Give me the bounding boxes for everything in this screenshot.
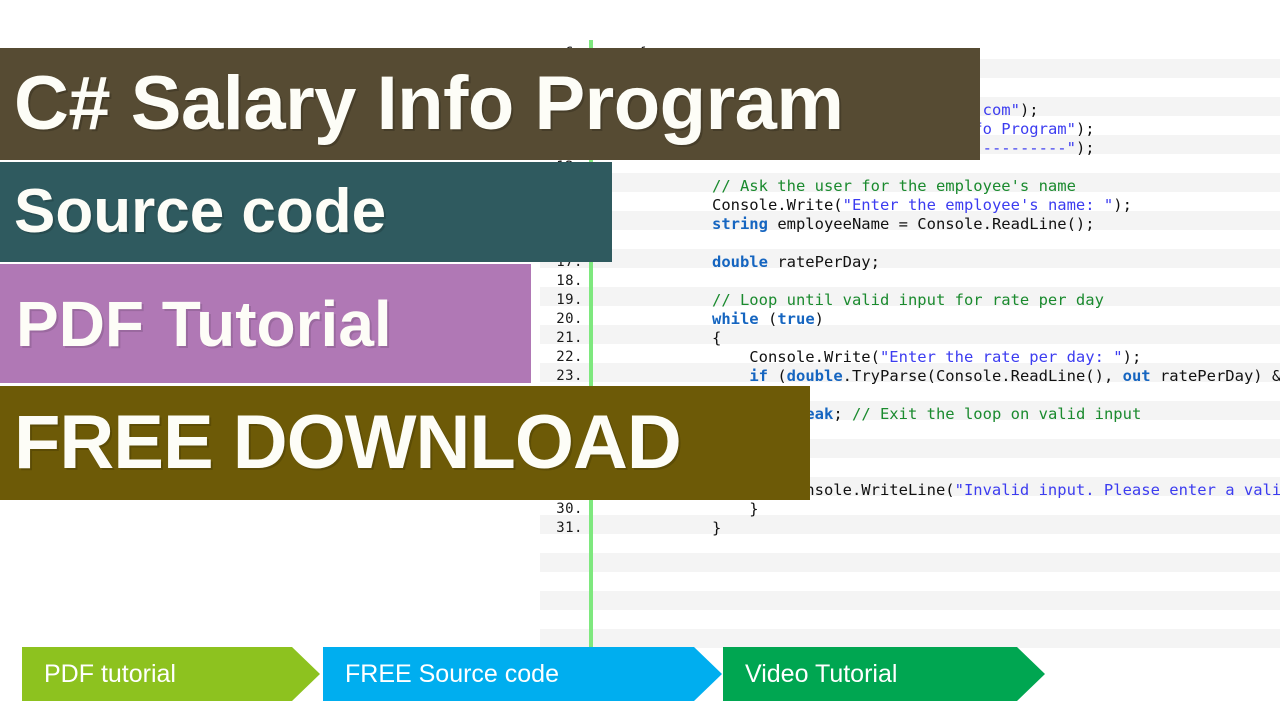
code-line: Console.Write("Enter the rate per day: "… xyxy=(600,348,1141,367)
banner-program-title-label: C# Salary Info Program xyxy=(0,66,844,142)
banner-free-download: FREE DOWNLOAD xyxy=(0,386,810,500)
chevron-free-source-code[interactable]: FREE Source code xyxy=(323,647,722,701)
line-number: 18. xyxy=(540,272,583,291)
banner-source-code-label: Source code xyxy=(0,181,386,243)
slide-canvas: 6.7.8.9.10.11.12.13.14.15.16.17.18.19.20… xyxy=(0,0,1280,720)
code-line: } xyxy=(600,519,721,538)
line-number: 22. xyxy=(540,348,583,367)
line-number: 31. xyxy=(540,519,583,538)
chevron-pdf-tutorial-label: PDF tutorial xyxy=(22,662,176,687)
code-line: Console.Write("Enter the employee's name… xyxy=(600,196,1132,215)
line-number: 20. xyxy=(540,310,583,329)
line-number: 23. xyxy=(540,367,583,386)
code-line: { xyxy=(600,329,721,348)
code-line: double ratePerDay; xyxy=(600,253,880,272)
line-number: 21. xyxy=(540,329,583,348)
banner-pdf-tutorial-label: PDF Tutorial xyxy=(0,292,392,356)
line-number: 19. xyxy=(540,291,583,310)
chevron-ribbon: PDF tutorial FREE Source code Video Tuto… xyxy=(0,647,1280,701)
banner-pdf-tutorial: PDF Tutorial xyxy=(0,264,531,383)
code-line: while (true) xyxy=(600,310,824,329)
banner-source-code: Source code xyxy=(0,162,612,262)
chevron-pdf-tutorial[interactable]: PDF tutorial xyxy=(22,647,320,701)
chevron-video-tutorial[interactable]: Video Tutorial xyxy=(723,647,1045,701)
chevron-video-tutorial-label: Video Tutorial xyxy=(723,662,897,687)
line-number: 30. xyxy=(540,500,583,519)
code-line: } xyxy=(600,500,759,519)
banner-free-download-label: FREE DOWNLOAD xyxy=(0,405,681,481)
banner-program-title: C# Salary Info Program xyxy=(0,48,980,160)
code-line: if (double.TryParse(Console.ReadLine(), … xyxy=(600,367,1280,386)
chevron-free-source-code-label: FREE Source code xyxy=(323,662,559,687)
code-line: // Loop until valid input for rate per d… xyxy=(600,291,1104,310)
code-line: string employeeName = Console.ReadLine()… xyxy=(600,215,1095,234)
code-line: // Ask the user for the employee's name xyxy=(600,177,1076,196)
